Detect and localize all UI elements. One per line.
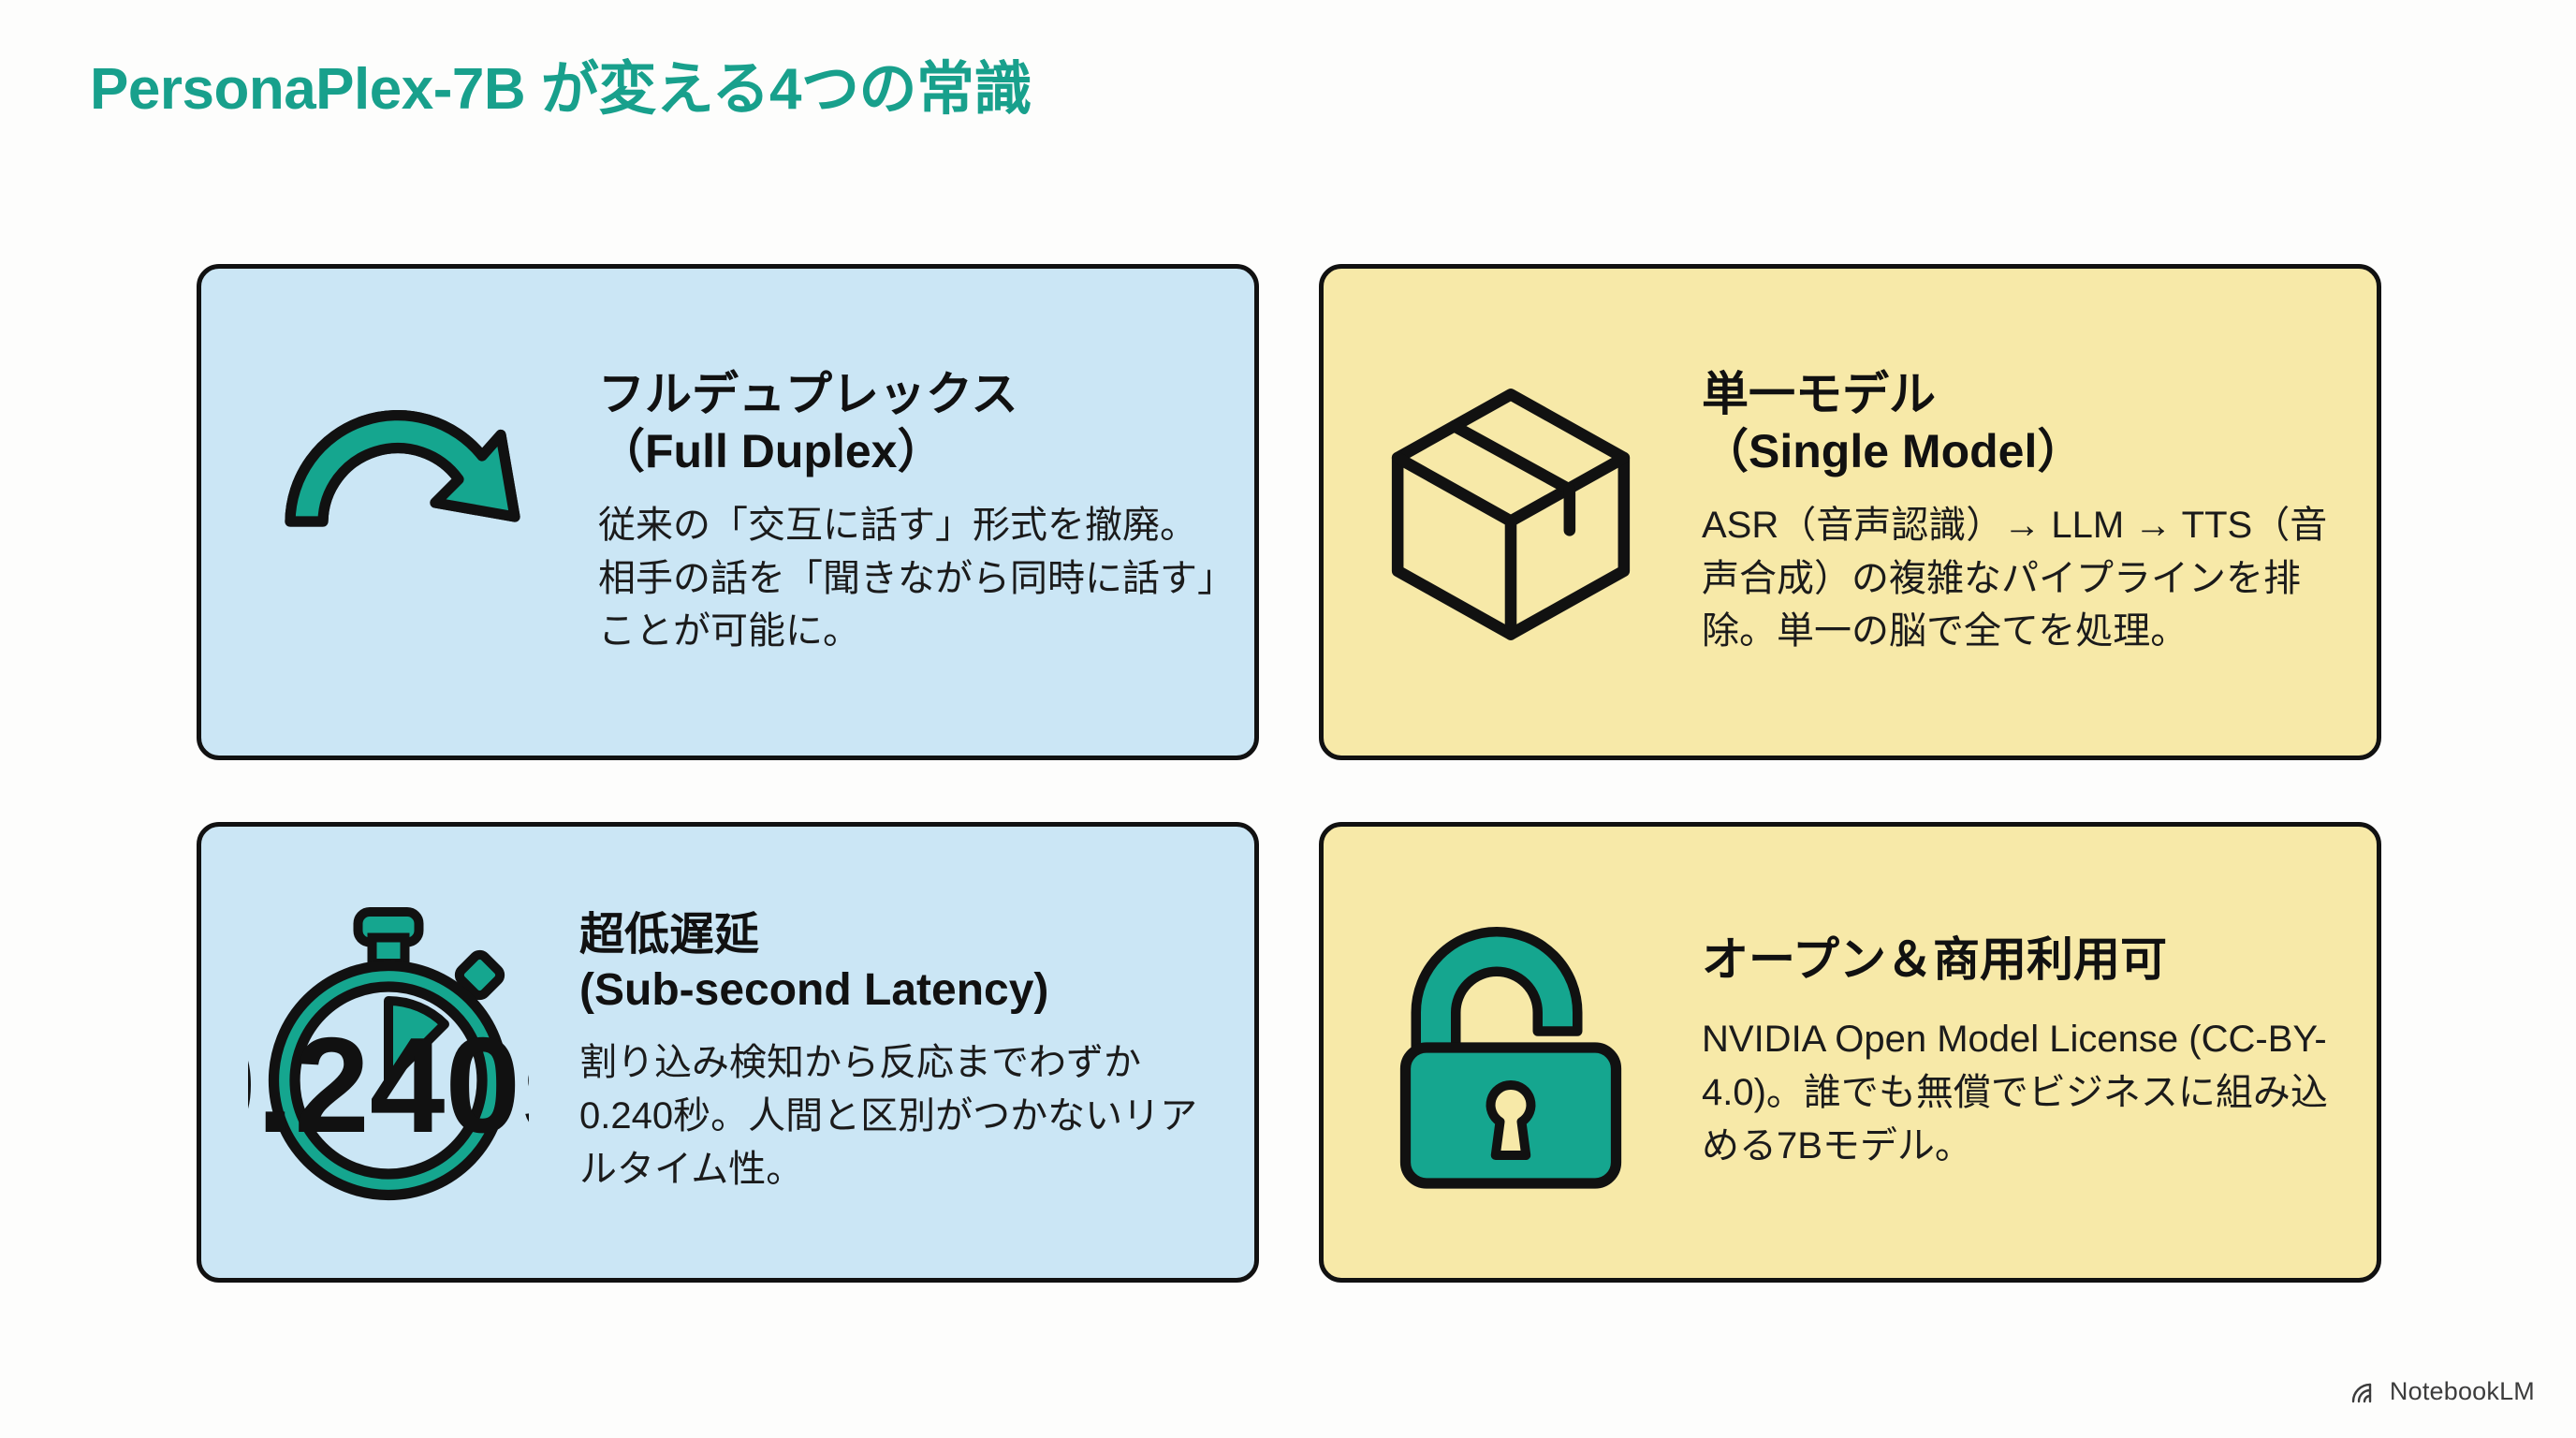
feature-card-single-model[interactable]: 単一モデル （Single Model） ASR（音声認識）→ LLM → TT… — [1319, 264, 2381, 760]
page-title: PersonaPlex-7B が変える4つの常識 — [90, 56, 1032, 123]
card-description: NVIDIA Open Model License (CC-BY-4.0)。誰で… — [1702, 1013, 2337, 1172]
notebooklm-label: NotebookLM — [2390, 1377, 2535, 1406]
feature-card-open-commercial-use[interactable]: オープン＆商用利用可 NVIDIA Open Model License (CC… — [1319, 822, 2381, 1283]
sync-arrows-icon — [201, 372, 594, 653]
slide-canvas: PersonaPlex-7B が変える4つの常識 フルデュプレックス （Full… — [0, 0, 2576, 1438]
feature-card-grid: フルデュプレックス （Full Duplex） 従来の「交互に話す」形式を撤廃。… — [197, 264, 2381, 1283]
stopwatch-icon: 0.240s — [201, 902, 576, 1202]
stopwatch-value: 0.240s — [248, 1009, 529, 1161]
card-text-block: 単一モデル （Single Model） ASR（音声認識）→ LLM → TT… — [1698, 366, 2377, 658]
feature-card-full-duplex[interactable]: フルデュプレックス （Full Duplex） 従来の「交互に話す」形式を撤廃。… — [197, 264, 1259, 760]
notebooklm-logo-icon — [2350, 1380, 2378, 1404]
card-title: 超低遅延 (Sub-second Latency) — [579, 908, 1215, 1018]
unlocked-padlock-icon — [1324, 912, 1698, 1193]
card-title: フルデュプレックス （Full Duplex） — [598, 366, 1217, 480]
feature-card-sub-second-latency[interactable]: 0.240s 超低遅延 (Sub-second Latency) 割り込み検知か… — [197, 822, 1259, 1283]
box-cube-icon — [1324, 376, 1698, 648]
notebooklm-watermark: NotebookLM — [2350, 1377, 2535, 1406]
card-text-block: 超低遅延 (Sub-second Latency) 割り込み検知から反応までわず… — [576, 908, 1254, 1196]
card-description: 従来の「交互に話す」形式を撤廃。相手の話を「聞きながら同時に話す」ことが可能に。 — [598, 499, 1217, 658]
card-text-block: オープン＆商用利用可 NVIDIA Open Model License (CC… — [1698, 932, 2377, 1172]
card-title: 単一モデル （Single Model） — [1702, 366, 2337, 480]
card-text-block: フルデュプレックス （Full Duplex） 従来の「交互に話す」形式を撤廃。… — [594, 366, 1254, 658]
card-description: ASR（音声認識）→ LLM → TTS（音声合成）の複雑なパイプラインを排除。… — [1702, 499, 2337, 658]
card-description: 割り込み検知から反応までわずか0.240秒。人間と区別がつかないリアルタイム性。 — [579, 1036, 1215, 1196]
card-title: オープン＆商用利用可 — [1702, 932, 2337, 989]
